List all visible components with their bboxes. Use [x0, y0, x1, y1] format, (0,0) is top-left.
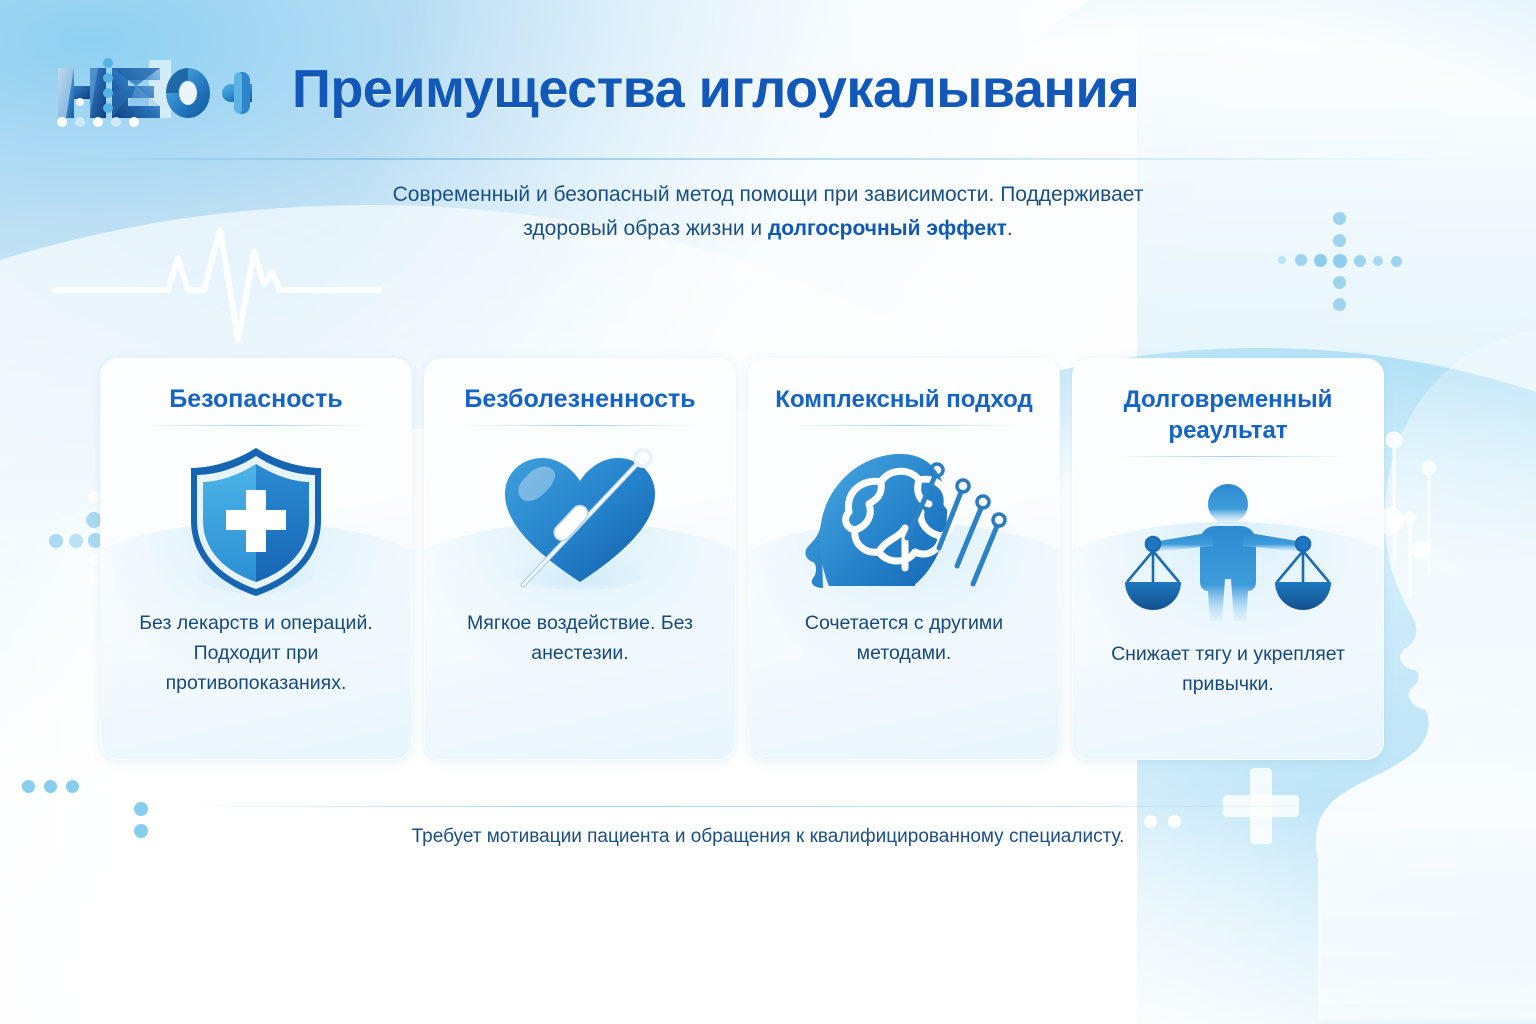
- person-scales-icon: [1090, 467, 1366, 639]
- subtitle: Современный и безопасный метод помощи пр…: [0, 178, 1536, 246]
- shield-cross-icon: [118, 436, 394, 608]
- card-divider: [464, 425, 696, 426]
- benefit-card-painless[interactable]: Безболезненность: [424, 358, 736, 760]
- neo-plus-logo[interactable]: [52, 56, 252, 136]
- page-header: Преимущества иглоукалывания: [0, 0, 1536, 148]
- benefit-card-complex-approach[interactable]: Комплексный подход: [748, 358, 1060, 760]
- card-title: Комплексный подход: [766, 384, 1042, 415]
- card-text: Снижает тягу и укрепляет привычки.: [1090, 639, 1366, 699]
- card-text: Сочетается с другими методами.: [766, 608, 1042, 668]
- card-text: Без лекарств и операций. Подходит при пр…: [118, 608, 394, 698]
- benefit-cards: Безопасность: [100, 358, 1390, 760]
- page-title: Преимущества иглоукалывания: [292, 58, 1139, 120]
- benefit-card-long-term-result[interactable]: Долговременный реаультат: [1072, 358, 1384, 760]
- subtitle-line-2-prefix: здоровый образ жизни и: [523, 217, 768, 240]
- card-title: Долговременный реаультат: [1090, 384, 1366, 446]
- subtitle-line-2-suffix: .: [1007, 217, 1013, 240]
- card-divider: [788, 425, 1020, 426]
- header-divider: [62, 158, 1477, 160]
- head-brain-needles-icon: [766, 436, 1042, 608]
- card-text: Мягкое воздействие. Без анестезии.: [442, 608, 718, 668]
- subtitle-highlight: долгосрочный эффект: [768, 217, 1007, 240]
- benefit-card-safety[interactable]: Безопасность: [100, 358, 412, 760]
- card-title: Безболезненность: [442, 384, 718, 415]
- subtitle-line-1: Современный и безопасный метод помощи пр…: [393, 183, 1144, 206]
- footer-note: Требует мотивации пациента и обращения к…: [0, 826, 1536, 848]
- card-divider: [140, 425, 372, 426]
- footer-divider: [178, 806, 1368, 807]
- card-title: Безопасность: [118, 384, 394, 415]
- heart-needle-icon: [442, 436, 718, 608]
- card-divider: [1112, 456, 1344, 457]
